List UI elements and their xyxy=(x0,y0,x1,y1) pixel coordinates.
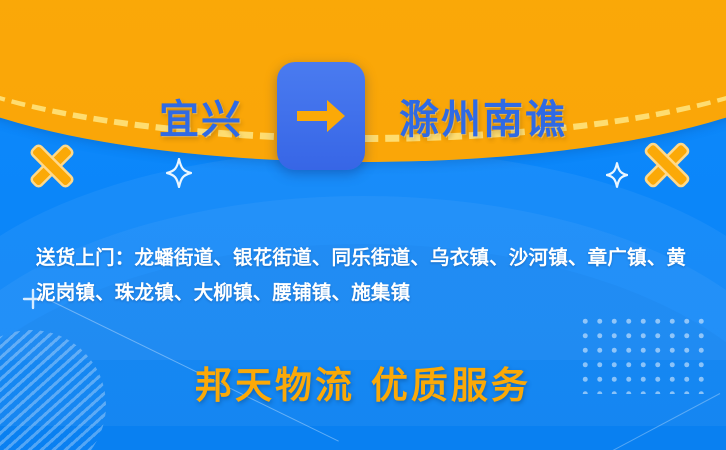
company-slogan: 邦天物流 优质服务 xyxy=(0,355,726,409)
destination-city: 滁州南谯 xyxy=(399,87,567,145)
route-header: 宜兴 滁州南谯 xyxy=(0,62,726,170)
logistics-route-banner: 宜兴 滁州南谯 送货上门：龙蟠街道、银花街道、同乐街道、乌衣镇、沙河镇、章广镇、… xyxy=(0,0,726,450)
arrow-right-icon xyxy=(277,62,365,170)
delivery-coverage-text: 送货上门：龙蟠街道、银花街道、同乐街道、乌衣镇、沙河镇、章广镇、黄泥岗镇、珠龙镇… xyxy=(36,240,698,310)
origin-city: 宜兴 xyxy=(159,87,243,145)
